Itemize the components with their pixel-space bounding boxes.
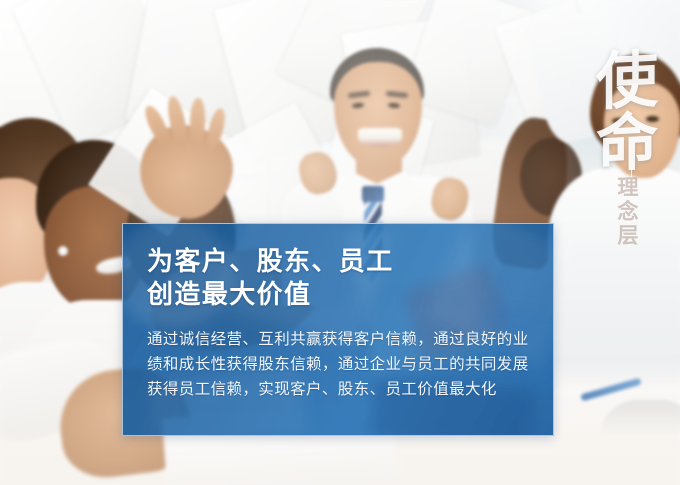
eye bbox=[612, 118, 625, 124]
eye bbox=[646, 116, 659, 122]
panel-body-text: 通过诚信经营、互利共赢获得客户信赖，通过良好的业绩和成长性获得股东信赖，通过企业… bbox=[147, 327, 531, 402]
panel-heading: 为客户、股东、员工 创造最大价值 bbox=[147, 246, 531, 313]
earring bbox=[58, 246, 68, 256]
content-panel: 为客户、股东、员工 创造最大价值 通过诚信经营、互利共赢获得客户信赖，通过良好的… bbox=[122, 223, 554, 436]
necktie-knot bbox=[362, 186, 384, 202]
panel-content: 为客户、股东、员工 创造最大价值 通过诚信经营、互利共赢获得客户信赖，通过良好的… bbox=[123, 224, 553, 402]
smile bbox=[358, 128, 402, 147]
poster-canvas: 使命 理念层 为客户、股东、员工 创造最大价值 通过诚信经营、互利共赢获得客户信… bbox=[0, 0, 680, 485]
face bbox=[604, 82, 680, 178]
